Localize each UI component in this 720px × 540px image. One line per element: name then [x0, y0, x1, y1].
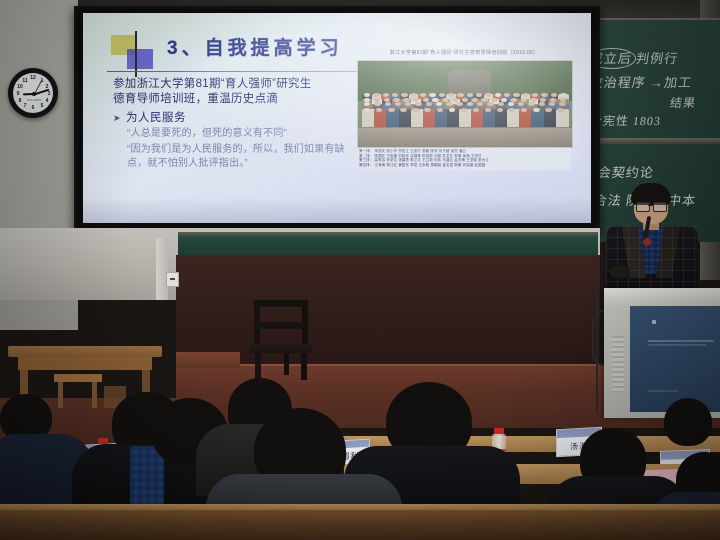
- monitor-text-line: [648, 344, 706, 346]
- presenter-hand: [610, 266, 630, 278]
- photo-person-head: [481, 98, 487, 102]
- podium-monitor[interactable]: [630, 306, 720, 412]
- chair-back-mid-rail: [256, 322, 306, 329]
- photo-person-head: [472, 98, 478, 102]
- clock-numeral: 9: [14, 91, 22, 97]
- eyeglasses-icon: [636, 202, 650, 212]
- presenter-plaid-pattern: [606, 226, 698, 294]
- stool-leg: [58, 382, 63, 408]
- attendee-head: [664, 398, 712, 446]
- slide-quote-1: “人总是要死的，但死的意义有不同”: [127, 127, 358, 141]
- wall-column: [156, 238, 168, 300]
- slide-title: 3、自我提高学习: [167, 33, 343, 60]
- photo-person-head: [521, 98, 527, 102]
- wall-outlet: [166, 272, 179, 287]
- monitor-text-line: [648, 390, 678, 392]
- photo-name-list: 第一排： 朱勤天 张小玲 齐松江 王彦方 张敏 陈凤 刘子超 吴杰 潘云 第二排…: [357, 148, 571, 170]
- photo-person-head: [530, 98, 536, 102]
- slide-body-line-2: 德育导师培训班，重温历史点滴: [113, 92, 358, 107]
- group-photo: [357, 60, 573, 148]
- photo-person-head: [449, 108, 455, 112]
- stool-seat: [54, 374, 102, 382]
- monitor-indicator: [652, 320, 656, 324]
- photo-person-head: [432, 98, 438, 102]
- slide-body: 参加浙江大学第81期“育人强师”研究生 德育导师培训班，重温历史点滴 ➤为人民服…: [113, 77, 358, 171]
- photo-person-head: [384, 98, 390, 102]
- photo-person-head: [412, 108, 418, 112]
- lecture-hall-scene: 12 1 2 3 4 5 6 7 8 9 10 11 POLARIS 成立后 判…: [0, 0, 720, 540]
- decoration-square-blue: [127, 49, 153, 69]
- photo-person-head: [364, 108, 370, 112]
- chair-leg: [255, 353, 261, 380]
- photo-person-head: [403, 98, 409, 102]
- photo-person-head: [388, 108, 394, 112]
- microphone-head: [643, 238, 651, 246]
- photo-person-head: [400, 108, 406, 112]
- podium-surface: [604, 288, 720, 302]
- photo-person-head: [376, 108, 382, 112]
- slide-title-decoration: [111, 35, 159, 71]
- clock-numeral: 3: [45, 91, 53, 97]
- chalk-line-3: 结果: [669, 94, 697, 111]
- eyeglasses-bridge: [648, 205, 653, 206]
- wooden-stool: [54, 374, 102, 408]
- chair-back-top-rail: [254, 300, 308, 307]
- stool-leg: [92, 382, 97, 408]
- photo-person-head: [413, 98, 419, 102]
- slide-bullet: ➤为人民服务: [113, 110, 358, 127]
- presentation-slide: 3、自我提高学习 参加浙江大学第81期“育人强师”研究生 德育导师培训班，重温历…: [83, 13, 591, 223]
- slide-quote-2: “因为我们是为人民服务的，所以，我们如果有缺点，就不怕别人批评指出。”: [127, 143, 358, 171]
- photo-person-head: [509, 108, 515, 112]
- photo-person-head: [423, 98, 429, 102]
- photo-person-head: [374, 98, 380, 102]
- photo-person-head: [545, 108, 551, 112]
- photo-person-head: [501, 98, 507, 102]
- photo-person-head: [533, 108, 539, 112]
- clock-face: 12 1 2 3 4 5 6 7 8 9 10 11 POLARIS: [13, 73, 53, 113]
- slide-photo-block: 浙江大学第81期“育人强师”研究生德育导师培训班（2019.05） 第一排： 朱…: [355, 49, 573, 171]
- slide-photo-caption: 浙江大学第81期“育人强师”研究生德育导师培训班（2019.05）: [355, 49, 573, 56]
- photo-name-row: 第四排： 江海涛 郑江红 黄胜东 李斌 汪永阳 周朝旭 金志斌 陈敏 刘晓晨 赵…: [359, 163, 569, 168]
- podium[interactable]: [604, 288, 720, 418]
- photo-person-head: [393, 98, 399, 102]
- photo-person-head: [364, 98, 370, 102]
- chair-seat: [250, 344, 312, 353]
- foreground-desk: [0, 510, 720, 540]
- desk-apron: [18, 357, 152, 370]
- slide-bullet-label: 为人民服务: [126, 112, 186, 124]
- eyeglasses-icon: [653, 202, 667, 212]
- photo-person-head: [473, 108, 479, 112]
- podium-cable: [596, 292, 598, 412]
- photo-person-head: [521, 108, 527, 112]
- wall-clock: 12 1 2 3 4 5 6 7 8 9 10 11 POLARIS: [8, 68, 58, 118]
- presenter: [596, 186, 712, 294]
- slide-bottom-shading: [83, 197, 591, 223]
- stage-chair: [250, 300, 312, 380]
- photo-person-head: [437, 108, 443, 112]
- photo-person-head: [560, 98, 566, 102]
- clock-numeral: 11: [21, 78, 29, 84]
- desk-top: [8, 346, 162, 357]
- slide-body-line-1: 参加浙江大学第81期“育人强师”研究生: [113, 77, 358, 92]
- podium-vent: [612, 336, 624, 392]
- chair-leg: [301, 353, 307, 380]
- photo-person-head: [557, 108, 563, 112]
- clock-center-pin: [32, 92, 36, 96]
- chair-leg: [284, 353, 289, 375]
- clock-numeral: 12: [29, 75, 37, 81]
- photo-person-head: [424, 108, 430, 112]
- clock-numeral: 10: [16, 84, 24, 90]
- photo-person-head: [485, 108, 491, 112]
- photo-person-head: [511, 98, 517, 102]
- projection-screen: 3、自我提高学习 参加浙江大学第81期“育人强师”研究生 德育导师培训班，重温历…: [74, 6, 600, 234]
- clock-brand-label: POLARIS: [26, 98, 42, 102]
- chalk-line-2: 政治程序 →加工: [589, 72, 694, 91]
- photo-person-head: [497, 108, 503, 112]
- photo-person-head: [442, 98, 448, 102]
- podium-cable-loop: [592, 310, 604, 366]
- attendee-collar: [130, 446, 164, 510]
- photo-person-head: [462, 98, 468, 102]
- photo-crowd: [358, 94, 572, 132]
- clock-numeral: 5: [38, 103, 46, 109]
- chalk-line-1: 成立后 判例行: [589, 48, 680, 67]
- photo-person-head: [461, 108, 467, 112]
- clock-numeral: 6: [29, 105, 37, 111]
- photo-person-head: [550, 98, 556, 102]
- monitor-text-line: [648, 340, 714, 342]
- clock-numeral: 8: [16, 98, 24, 104]
- stage-step: [176, 352, 240, 368]
- photo-person-head: [491, 98, 497, 102]
- slide-surface: 3、自我提高学习 参加浙江大学第81期“育人强师”研究生 德育导师培训班，重温历…: [83, 13, 591, 223]
- bullet-arrow-icon: ➤: [113, 113, 121, 123]
